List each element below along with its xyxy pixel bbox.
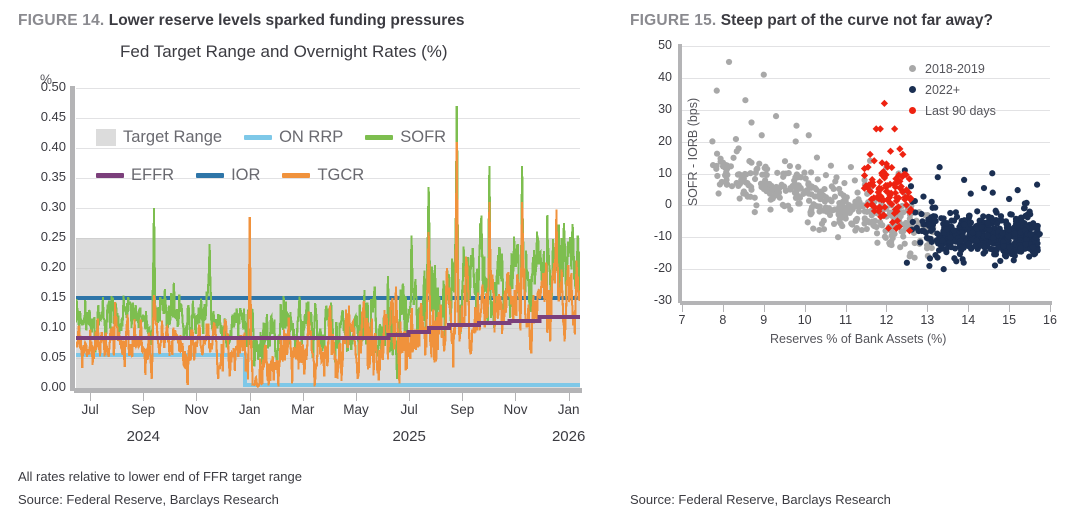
scatter-point	[1022, 205, 1028, 211]
scatter-point	[961, 177, 967, 183]
x-tick-label: 16	[1030, 313, 1070, 327]
scatter-point	[939, 238, 945, 244]
x-tick	[90, 393, 91, 401]
scatter-point	[831, 221, 837, 227]
y-tick-label: 0.25	[14, 229, 66, 244]
figure-14-number: FIGURE 14.	[18, 12, 104, 29]
figure-15-headline: Steep part of the curve not far away?	[721, 12, 993, 29]
x-tick-label: Nov	[485, 402, 545, 417]
figure-15-y-axis-label: SOFR - IORB (bps)	[686, 67, 700, 237]
scatter-point	[854, 189, 860, 195]
y-tick-label: 0.05	[14, 349, 66, 364]
scatter-point	[966, 213, 972, 219]
figure-15-x-axis	[680, 301, 1052, 305]
scatter-point	[861, 172, 868, 179]
x-tick	[1050, 305, 1051, 312]
scatter-point	[722, 172, 728, 178]
scatter-point	[917, 239, 923, 245]
scatter-point	[748, 119, 754, 125]
scatter-point	[761, 72, 767, 78]
scatter-point	[927, 255, 933, 261]
scatter-point	[769, 186, 775, 192]
x-tick	[356, 393, 357, 401]
figure-15-source: Source: Federal Reserve, Barclays Resear…	[630, 492, 891, 507]
scatter-point	[1034, 182, 1040, 188]
legend-swatch-effr	[96, 173, 124, 178]
scatter-point	[961, 260, 967, 266]
scatter-point	[989, 170, 995, 176]
scatter-point	[920, 194, 926, 200]
figure-14-panel: FIGURE 14. Lower reserve levels sparked …	[0, 0, 620, 526]
scatter-point	[809, 210, 815, 216]
y-tick-label: 50	[628, 38, 672, 52]
scatter-point	[866, 151, 873, 158]
x-tick-label: May	[326, 402, 386, 417]
scatter-point	[810, 225, 816, 231]
scatter-point	[774, 170, 780, 176]
x-tick	[1009, 305, 1010, 312]
scatter-point	[836, 200, 842, 206]
scatter-point	[795, 200, 801, 206]
scatter-point	[820, 208, 826, 214]
scatter-point	[904, 260, 910, 266]
legend-row-last-90-days: Last 90 days	[905, 100, 996, 121]
scatter-point	[762, 165, 768, 171]
scatter-point	[719, 179, 725, 185]
scatter-point	[823, 194, 829, 200]
scatter-point	[818, 189, 824, 195]
scatter-point	[935, 174, 941, 180]
legend-label-2022-plus: 2022+	[925, 83, 960, 97]
x-tick-label: Sep	[432, 402, 492, 417]
scatter-point	[929, 239, 935, 245]
figure-14-title: FIGURE 14. Lower reserve levels sparked …	[18, 12, 465, 30]
scatter-point	[918, 211, 924, 217]
figure-14-note: All rates relative to lower end of FFR t…	[18, 469, 302, 484]
y-tick-label: 10	[628, 166, 672, 180]
x-year-label: 2024	[111, 428, 175, 445]
scatter-point	[999, 230, 1005, 236]
legend-label-effr: EFFR	[131, 166, 174, 185]
scatter-point	[828, 163, 834, 169]
scatter-point	[726, 59, 732, 65]
x-tick	[968, 305, 969, 312]
legend-swatch-tgcr	[282, 173, 310, 178]
scatter-point	[821, 226, 827, 232]
scatter-point	[1006, 196, 1012, 202]
scatter-point	[752, 209, 758, 215]
y-tick-label: 0.20	[14, 259, 66, 274]
scatter-point	[714, 151, 720, 157]
x-tick	[515, 393, 516, 401]
scatter-point	[1024, 214, 1030, 220]
scatter-point	[793, 123, 799, 129]
scatter-point	[907, 253, 913, 259]
scatter-point	[713, 163, 719, 169]
scatter-point	[1028, 231, 1034, 237]
scatter-point	[852, 227, 858, 233]
scatter-point	[874, 240, 880, 246]
y-tick-label: 0	[628, 197, 672, 211]
scatter-point	[1012, 231, 1018, 237]
scatter-point	[908, 183, 914, 189]
scatter-point	[957, 238, 963, 244]
scatter-point	[930, 226, 936, 232]
scatter-point	[859, 227, 865, 233]
figure-14-legend: Target Range ON RRP SOFR EFFR IOR TGCR	[96, 124, 468, 188]
y-tick-label: 0.30	[14, 199, 66, 214]
scatter-point	[990, 190, 996, 196]
scatter-point	[912, 240, 918, 246]
scatter-point	[998, 213, 1004, 219]
scatter-point	[759, 132, 765, 138]
y-tick-label: -20	[628, 261, 672, 275]
scatter-point	[1030, 244, 1036, 250]
x-tick	[250, 393, 251, 401]
scatter-point	[1011, 257, 1017, 263]
scatter-point	[944, 226, 950, 232]
scatter-point	[968, 191, 974, 197]
scatter-point	[953, 258, 959, 264]
legend-label-on-rrp: ON RRP	[279, 128, 343, 147]
figure-14-x-axis	[74, 388, 582, 393]
scatter-point	[728, 163, 734, 169]
x-tick-label: 12	[866, 313, 906, 327]
scatter-point	[929, 199, 935, 205]
legend-label-target-range: Target Range	[123, 128, 222, 147]
scatter-point	[832, 194, 838, 200]
legend-label-last-90-days: Last 90 days	[925, 104, 996, 118]
scatter-point	[1006, 244, 1012, 250]
figure-15-legend: 2018-2019 2022+ Last 90 days	[905, 58, 996, 121]
y-tick-label: 30	[628, 102, 672, 116]
scatter-point	[1006, 227, 1012, 233]
scatter-point	[929, 205, 935, 211]
scatter-point	[835, 234, 841, 240]
scatter-point	[1032, 251, 1038, 257]
scatter-point	[734, 148, 740, 154]
scatter-point	[793, 195, 799, 201]
scatter-point	[814, 154, 820, 160]
scatter-point	[877, 125, 884, 132]
y-tick-label: 0.40	[14, 139, 66, 154]
scatter-point	[796, 182, 802, 188]
scatter-point	[848, 164, 854, 170]
x-tick-label: 14	[948, 313, 988, 327]
scatter-point	[809, 184, 815, 190]
y-tick-label: 0.45	[14, 109, 66, 124]
scatter-point	[782, 158, 788, 164]
scatter-point	[852, 177, 858, 183]
scatter-point	[821, 218, 827, 224]
scatter-point	[873, 224, 879, 230]
scatter-point	[966, 241, 972, 247]
x-tick-label: 9	[744, 313, 784, 327]
scatter-point	[752, 195, 758, 201]
scatter-point	[1031, 225, 1037, 231]
scatter-point	[987, 246, 993, 252]
scatter-point	[715, 190, 721, 196]
scatter-point	[973, 238, 979, 244]
scatter-point	[752, 176, 758, 182]
scatter-point	[815, 176, 821, 182]
legend-label-ior: IOR	[231, 166, 260, 185]
x-tick	[723, 305, 724, 312]
scatter-point	[764, 172, 770, 178]
scatter-point	[780, 171, 786, 177]
scatter-point	[801, 170, 807, 176]
scatter-point	[980, 250, 986, 256]
scatter-point	[714, 173, 720, 179]
x-tick	[409, 393, 410, 401]
scatter-point	[980, 213, 986, 219]
scatter-point	[779, 183, 785, 189]
scatter-point	[806, 198, 812, 204]
scatter-point	[735, 172, 741, 178]
y-tick-label: 0.15	[14, 289, 66, 304]
scatter-point	[730, 155, 736, 161]
scatter-point	[994, 221, 1000, 227]
x-tick	[196, 393, 197, 401]
scatter-point	[861, 220, 867, 226]
scatter-point	[910, 219, 916, 225]
scatter-point	[924, 235, 930, 241]
legend-label-2018-2019: 2018-2019	[925, 62, 985, 76]
scatter-point	[748, 160, 754, 166]
scatter-point	[900, 233, 906, 239]
scatter-point	[864, 209, 870, 215]
scatter-point	[934, 255, 940, 261]
legend-row-2022-plus: 2022+	[905, 79, 996, 100]
x-tick	[764, 305, 765, 312]
figure-15-y-axis	[678, 44, 682, 303]
scatter-point	[997, 258, 1003, 264]
x-tick-label: Jul	[60, 402, 120, 417]
scatter-point	[843, 198, 849, 204]
scatter-point	[984, 219, 990, 225]
scatter-point	[984, 232, 990, 238]
x-tick-label: Jan	[220, 402, 280, 417]
scatter-point	[767, 206, 773, 212]
scatter-point	[775, 190, 781, 196]
scatter-point	[888, 239, 894, 245]
scatter-point	[832, 178, 838, 184]
legend-row-1: Target Range ON RRP SOFR	[96, 124, 468, 150]
x-tick-label: 11	[826, 313, 866, 327]
scatter-point	[795, 164, 801, 170]
scatter-point	[816, 203, 822, 209]
scatter-point	[947, 210, 953, 216]
scatter-point	[974, 226, 980, 232]
figure-14-y-axis	[70, 86, 75, 391]
x-tick	[569, 393, 570, 401]
scatter-point	[724, 181, 730, 187]
x-tick	[462, 393, 463, 401]
legend-dot-2018-2019	[909, 65, 916, 72]
figures-page: FIGURE 14. Lower reserve levels sparked …	[0, 0, 1076, 526]
x-tick-label: Nov	[166, 402, 226, 417]
scatter-point	[974, 208, 980, 214]
scatter-point	[787, 163, 793, 169]
y-tick-label: -10	[628, 229, 672, 243]
x-tick-label: Jul	[379, 402, 439, 417]
x-tick-label: Sep	[113, 402, 173, 417]
x-tick	[805, 305, 806, 312]
scatter-point	[794, 171, 800, 177]
scatter-point	[874, 230, 880, 236]
scatter-point	[919, 218, 925, 224]
scatter-point	[1027, 208, 1033, 214]
x-tick	[682, 305, 683, 312]
scatter-point	[841, 180, 847, 186]
legend-swatch-target-range	[96, 129, 116, 146]
scatter-point	[852, 199, 858, 205]
x-tick-label: 7	[662, 313, 702, 327]
scatter-point	[737, 195, 743, 201]
x-tick-label: Mar	[273, 402, 333, 417]
y-tick-label: 0.00	[14, 379, 66, 394]
figure-14-subtitle: Fed Target Range and Overnight Rates (%)	[120, 42, 448, 62]
x-tick-label: 8	[703, 313, 743, 327]
scatter-point	[883, 235, 889, 241]
scatter-point	[720, 163, 726, 169]
scatter-point	[787, 185, 793, 191]
scatter-point	[1015, 187, 1021, 193]
scatter-point	[902, 241, 908, 247]
scatter-point	[926, 221, 932, 227]
scatter-point	[1009, 211, 1015, 217]
scatter-point	[1018, 245, 1024, 251]
scatter-point	[854, 216, 860, 222]
scatter-point	[891, 125, 898, 132]
scatter-point	[823, 172, 829, 178]
scatter-point	[992, 262, 998, 268]
scatter-point	[739, 178, 745, 184]
scatter-point	[763, 188, 769, 194]
scatter-point	[709, 138, 715, 144]
scatter-point	[1001, 243, 1007, 249]
x-tick	[927, 305, 928, 312]
scatter-point	[990, 235, 996, 241]
scatter-point	[881, 100, 888, 107]
figure-15-number: FIGURE 15.	[630, 12, 716, 29]
scatter-point	[961, 222, 967, 228]
scatter-point	[844, 207, 850, 213]
x-tick-label: Jan	[539, 402, 599, 417]
scatter-point	[972, 243, 978, 249]
legend-label-tgcr: TGCR	[317, 166, 364, 185]
scatter-point	[1006, 234, 1012, 240]
figure-15-x-axis-label: Reserves % of Bank Assets (%)	[770, 332, 946, 346]
legend-swatch-ior	[196, 173, 224, 178]
scatter-point	[746, 182, 752, 188]
scatter-point	[1002, 252, 1008, 258]
legend-swatch-on-rrp	[244, 135, 272, 140]
scatter-point	[941, 266, 947, 272]
x-tick-label: 10	[785, 313, 825, 327]
figure-15-title: FIGURE 15. Steep part of the curve not f…	[630, 12, 993, 30]
scatter-point	[961, 245, 967, 251]
legend-swatch-sofr	[365, 135, 393, 140]
scatter-point	[805, 219, 811, 225]
figure-14-headline: Lower reserve levels sparked funding pre…	[109, 12, 465, 29]
scatter-point	[887, 148, 894, 155]
y-tick-label: -30	[628, 293, 672, 307]
scatter-point	[773, 113, 779, 119]
scatter-point	[981, 185, 987, 191]
y-tick-label: 0.35	[14, 169, 66, 184]
y-tick-label: 0.50	[14, 79, 66, 94]
x-year-label: 2026	[537, 428, 601, 445]
x-tick-label: 15	[989, 313, 1029, 327]
scatter-point	[839, 223, 845, 229]
scatter-point	[1037, 231, 1043, 237]
scatter-point	[781, 203, 787, 209]
x-tick	[846, 305, 847, 312]
scatter-point	[926, 263, 932, 269]
y-tick-label: 40	[628, 70, 672, 84]
figure-15-panel: FIGURE 15. Steep part of the curve not f…	[620, 0, 1076, 526]
scatter-point	[954, 214, 960, 220]
scatter-point	[742, 97, 748, 103]
scatter-point	[753, 170, 759, 176]
scatter-point	[714, 88, 720, 94]
legend-dot-last-90-days	[909, 107, 916, 114]
scatter-point	[947, 234, 953, 240]
y-tick-label: 20	[628, 134, 672, 148]
scatter-point	[944, 220, 950, 226]
x-tick	[886, 305, 887, 312]
scatter-point	[808, 169, 814, 175]
scatter-point	[848, 220, 854, 226]
legend-dot-2022-plus	[909, 86, 916, 93]
legend-label-sofr: SOFR	[400, 128, 446, 147]
x-year-label: 2025	[377, 428, 441, 445]
scatter-point	[937, 164, 943, 170]
scatter-point	[981, 244, 987, 250]
scatter-point	[1014, 222, 1020, 228]
scatter-point	[948, 244, 954, 250]
scatter-point	[756, 161, 762, 167]
x-tick-label: 13	[907, 313, 947, 327]
figure-14-source: Source: Federal Reserve, Barclays Resear…	[18, 492, 279, 507]
scatter-point	[793, 138, 799, 144]
y-tick-label: 0.10	[14, 319, 66, 334]
scatter-point	[836, 211, 842, 217]
scatter-point	[933, 218, 939, 224]
x-tick	[303, 393, 304, 401]
scatter-point	[753, 202, 759, 208]
legend-row-2018-2019: 2018-2019	[905, 58, 996, 79]
scatter-point	[743, 191, 749, 197]
scatter-point	[921, 228, 927, 234]
scatter-point	[806, 132, 812, 138]
x-tick	[143, 393, 144, 401]
scatter-point	[951, 227, 957, 233]
scatter-point	[836, 186, 842, 192]
scatter-point	[733, 136, 739, 142]
legend-row-2: EFFR IOR TGCR	[96, 162, 468, 188]
scatter-point	[758, 181, 764, 187]
